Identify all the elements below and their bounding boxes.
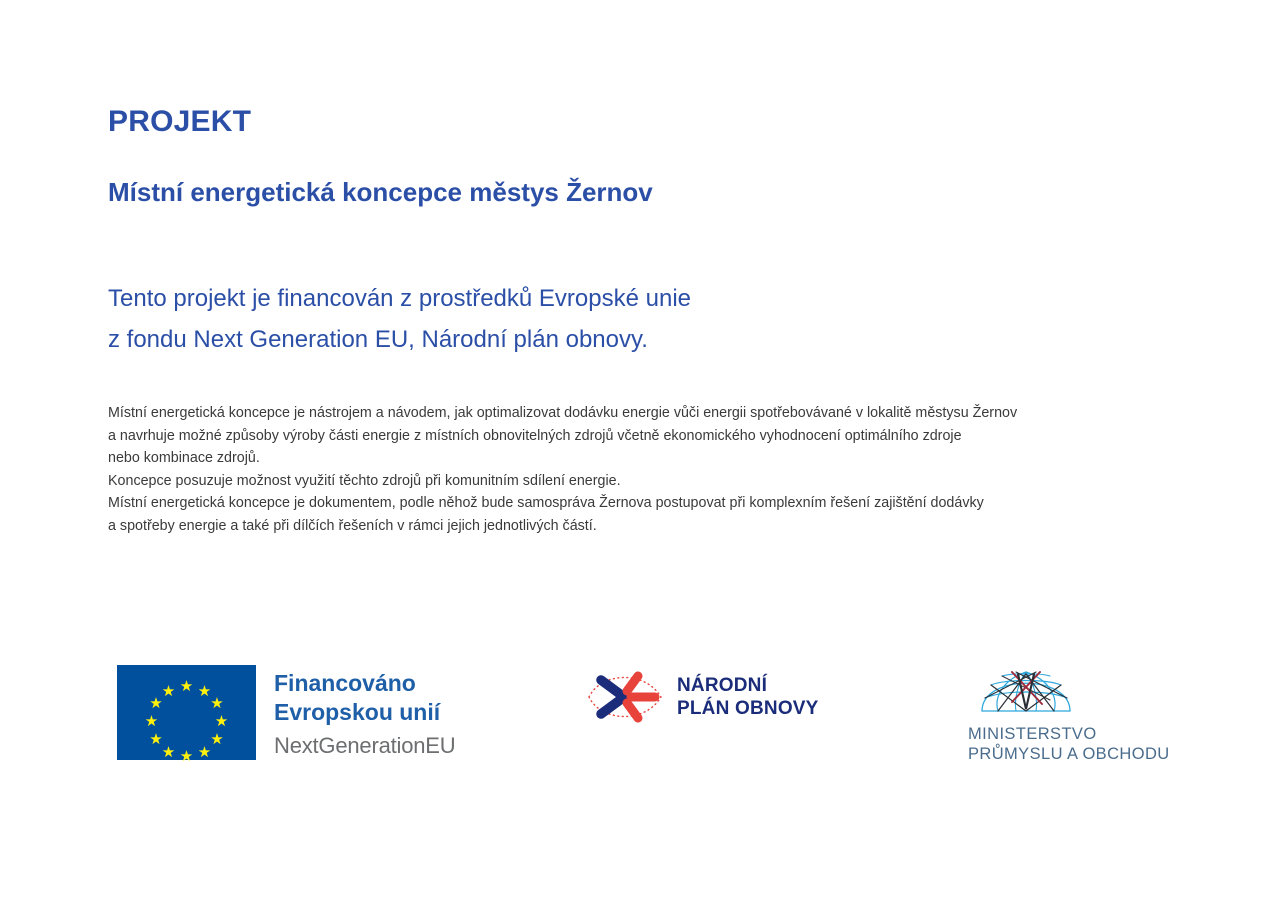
body-line: nebo kombinace zdrojů.	[108, 447, 1193, 470]
eu-star-icon: ★	[149, 732, 163, 746]
npo-mark-icon	[583, 666, 669, 728]
eu-star-icon: ★	[210, 732, 224, 746]
eu-logo-text: Financováno Evropskou unií NextGeneratio…	[274, 665, 455, 761]
funding-statement-line-1: Tento projekt je financován z prostředků…	[108, 278, 1108, 319]
eu-star-icon: ★	[180, 679, 194, 693]
narodni-plan-obnovy-logo: NÁRODNÍ PLÁN OBNOVY	[583, 666, 819, 728]
eu-star-icon: ★	[162, 684, 176, 698]
eu-star-icon: ★	[149, 696, 163, 710]
funding-statement: Tento projekt je financován z prostředků…	[108, 278, 1108, 361]
page-title: PROJEKT	[108, 105, 1188, 138]
eu-heading-line-2: Evropskou unií	[274, 698, 455, 727]
title-block: PROJEKT Místní energetická koncepce měst…	[108, 105, 1188, 208]
npo-logo-text: NÁRODNÍ PLÁN OBNOVY	[677, 674, 819, 720]
eu-star-icon: ★	[215, 714, 229, 728]
slide-canvas: PROJEKT Místní energetická koncepce měst…	[0, 0, 1280, 905]
body-line: Místní energetická koncepce je nástrojem…	[108, 402, 1193, 425]
mpo-text-line-1: MINISTERSTVO	[968, 724, 1180, 744]
body-paragraph: Místní energetická koncepce je nástrojem…	[108, 402, 1193, 537]
mpo-dome-globe-icon	[978, 654, 1074, 720]
body-line: Koncepce posuzuje možnost využití těchto…	[108, 470, 1193, 493]
ministerstvo-prumyslu-a-obchodu-logo: MINISTERSTVO PRŮMYSLU A OBCHODU	[968, 654, 1180, 764]
mpo-logo-text: MINISTERSTVO PRŮMYSLU A OBCHODU	[968, 720, 1180, 764]
body-line: a spotřeby energie a také při dílčích ře…	[108, 515, 1193, 538]
npo-text-line-1: NÁRODNÍ	[677, 674, 819, 697]
eu-heading-line-1: Financováno	[274, 669, 455, 698]
body-line: Místní energetická koncepce je dokumente…	[108, 492, 1193, 515]
eu-star-icon: ★	[198, 745, 212, 759]
nextgenerationeu-label: NextGenerationEU	[274, 726, 455, 761]
eu-star-icon: ★	[180, 749, 194, 763]
eu-star-icon: ★	[162, 745, 176, 759]
eu-flag-icon: ★ ★ ★ ★ ★ ★ ★ ★ ★ ★ ★ ★	[117, 665, 256, 760]
eu-star-icon: ★	[145, 714, 159, 728]
eu-star-icon: ★	[210, 696, 224, 710]
mpo-text-line-2: PRŮMYSLU A OBCHODU	[968, 744, 1180, 764]
body-line: a navrhuje možné způsoby výroby části en…	[108, 425, 1193, 448]
funding-statement-line-2: z fondu Next Generation EU, Národní plán…	[108, 319, 1108, 360]
eu-flag-logo: ★ ★ ★ ★ ★ ★ ★ ★ ★ ★ ★ ★ Financováno Evro…	[117, 665, 455, 761]
logo-strip: ★ ★ ★ ★ ★ ★ ★ ★ ★ ★ ★ ★ Financováno Evro…	[0, 648, 1280, 778]
project-subtitle: Místní energetická koncepce městys Žerno…	[108, 138, 1188, 208]
npo-text-line-2: PLÁN OBNOVY	[677, 697, 819, 720]
